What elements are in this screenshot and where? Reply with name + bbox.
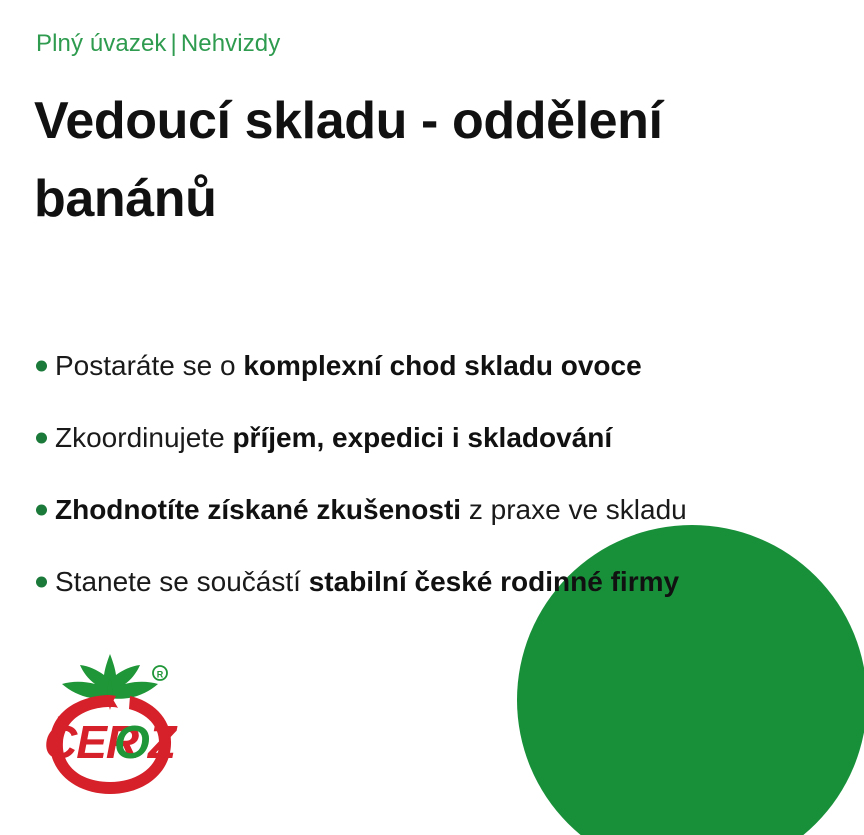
- logo-wordmark: ČER O Z: [44, 716, 178, 768]
- registered-trademark-icon: R: [153, 666, 167, 680]
- perk-text: Postaráte se o komplexní chod skladu ovo…: [55, 349, 642, 383]
- list-item: Zhodnotíte získané zkušenosti z praxe ve…: [30, 474, 830, 546]
- bullet-dot-icon: [36, 433, 47, 444]
- svg-text:Z: Z: [146, 716, 178, 768]
- list-item: Zkoordinujete příjem, expedici i skladov…: [30, 402, 830, 474]
- perk-strong-text: stabilní české rodinné firmy: [309, 566, 679, 597]
- list-item: Stanete se součástí stabilní české rodin…: [30, 546, 830, 618]
- svg-text:O: O: [114, 716, 150, 768]
- logo-leaf-crown: [62, 654, 158, 699]
- ceroz-logo: R ČER O Z: [30, 648, 195, 798]
- meta-separator: |: [167, 30, 181, 57]
- bullet-dot-icon: [36, 361, 47, 372]
- job-location-label: Nehvizdy: [181, 30, 281, 57]
- perk-strong-text: komplexní chod skladu ovoce: [243, 350, 641, 381]
- list-item: Postaráte se o komplexní chod skladu ovo…: [30, 330, 830, 402]
- perk-lead-text: Stanete se součástí: [55, 566, 309, 597]
- page-title: Vedoucí skladu - oddělení banánů: [34, 82, 754, 238]
- job-ad-card: Plný úvazek|Nehvizdy Vedoucí skladu - od…: [0, 0, 864, 835]
- perk-text: Stanete se součástí stabilní české rodin…: [55, 565, 679, 599]
- ceroz-tomato-logo-icon: R ČER O Z: [30, 648, 195, 798]
- job-perks-list: Postaráte se o komplexní chod skladu ovo…: [30, 330, 830, 618]
- perk-text: Zkoordinujete příjem, expedici i skladov…: [55, 421, 612, 455]
- perk-strong-text: Zhodnotíte získané zkušenosti: [55, 494, 461, 525]
- job-meta-line: Plný úvazek|Nehvizdy: [36, 28, 280, 60]
- perk-text: Zhodnotíte získané zkušenosti z praxe ve…: [55, 493, 687, 527]
- perk-lead-text: Zkoordinujete: [55, 422, 232, 453]
- perk-strong-text: příjem, expedici i skladování: [232, 422, 612, 453]
- bullet-dot-icon: [36, 577, 47, 588]
- bullet-dot-icon: [36, 505, 47, 516]
- perk-lead-text: Postaráte se o: [55, 350, 243, 381]
- perk-tail-text: z praxe ve skladu: [461, 494, 687, 525]
- svg-text:R: R: [157, 670, 164, 680]
- employment-type-label: Plný úvazek: [36, 30, 167, 57]
